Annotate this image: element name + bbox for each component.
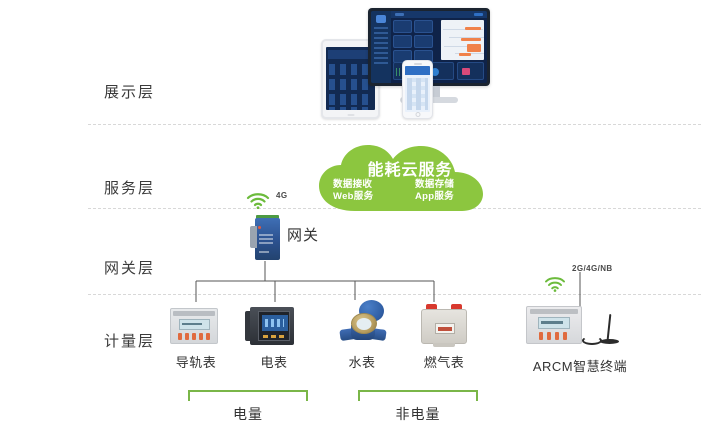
device-arcm-terminal: 2G/4G/NB ARCM智慧终端: [520, 304, 640, 348]
device-gas-meter: 燃气表: [408, 302, 480, 346]
arcm-uplink-tag: 2G/4G/NB: [572, 264, 613, 273]
din-rail-meter-icon: [160, 304, 232, 348]
electric-meter-icon: [238, 304, 310, 348]
architecture-diagram: 展示层 服务层 网关层 计量层: [0, 0, 715, 443]
gateway-uplink-tag: 4G: [276, 191, 287, 200]
arcm-terminal-label: ARCM智慧终端: [520, 356, 640, 375]
device-din-rail-meter: 导轨表: [160, 304, 232, 348]
din-rail-meter-label: 导轨表: [160, 352, 232, 371]
bracket-non-electric-label: 非电量: [358, 404, 478, 424]
water-meter-icon: [326, 300, 398, 344]
gateway-device-icon: [250, 218, 280, 260]
device-electric-meter: 电表: [238, 304, 310, 348]
gateway-label: 网关: [287, 224, 319, 245]
electric-meter-label: 电表: [238, 352, 310, 371]
gas-meter-label: 燃气表: [408, 352, 480, 371]
bracket-electric: 电量: [188, 390, 308, 401]
wifi-icon-arcm: [544, 276, 566, 292]
gas-meter-icon: [408, 302, 480, 346]
antenna-icon: [582, 314, 624, 348]
bracket-electric-label: 电量: [188, 404, 308, 424]
gateway-node: 4G 网关: [238, 190, 358, 252]
bracket-non-electric: 非电量: [358, 390, 478, 401]
water-meter-label: 水表: [326, 352, 398, 371]
arcm-terminal-icon: 2G/4G/NB: [520, 304, 640, 348]
wifi-icon: [246, 192, 270, 209]
device-water-meter: 水表: [326, 300, 398, 344]
